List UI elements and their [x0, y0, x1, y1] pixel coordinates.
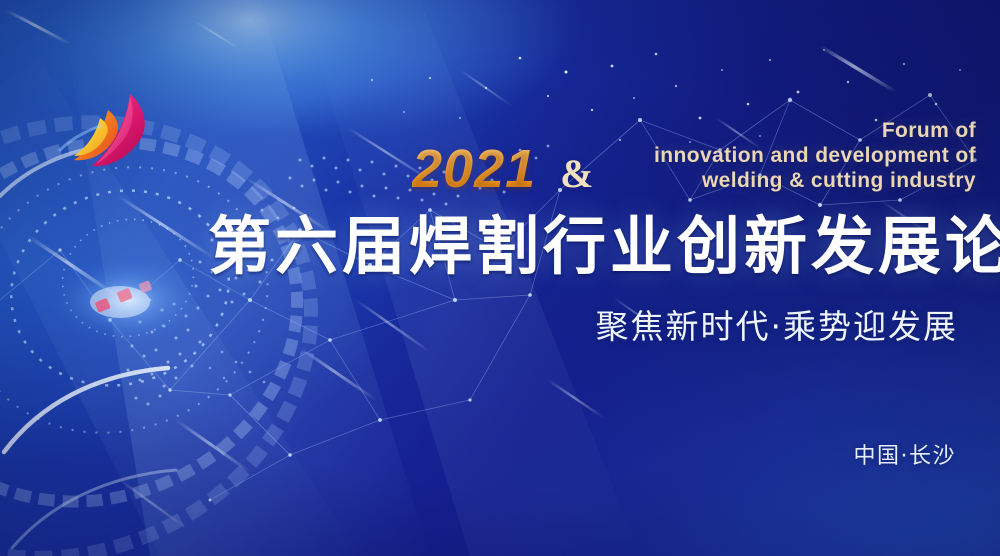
english-title-line-1: Forum of: [654, 118, 976, 143]
english-title-line-3: welding & cutting industry: [654, 168, 976, 193]
flame-sail-logo: [52, 88, 172, 188]
english-title-line-2: innovation and development of: [654, 143, 976, 168]
location-label: 中国·长沙: [854, 438, 957, 470]
year-label: 2021: [412, 142, 536, 196]
conference-banner: 2021 & Forum of innovation and developme…: [0, 0, 1000, 556]
ampersand-label: &: [560, 154, 593, 194]
english-title-block: Forum of innovation and development of w…: [654, 118, 976, 193]
flame-sail-logo-icon: [52, 88, 172, 188]
year-row: 2021 &: [412, 142, 593, 196]
main-title: 第六届焊割行业创新发展论坛: [208, 212, 1000, 283]
subtitle: 聚焦新时代·乘势迎发展: [596, 300, 959, 348]
